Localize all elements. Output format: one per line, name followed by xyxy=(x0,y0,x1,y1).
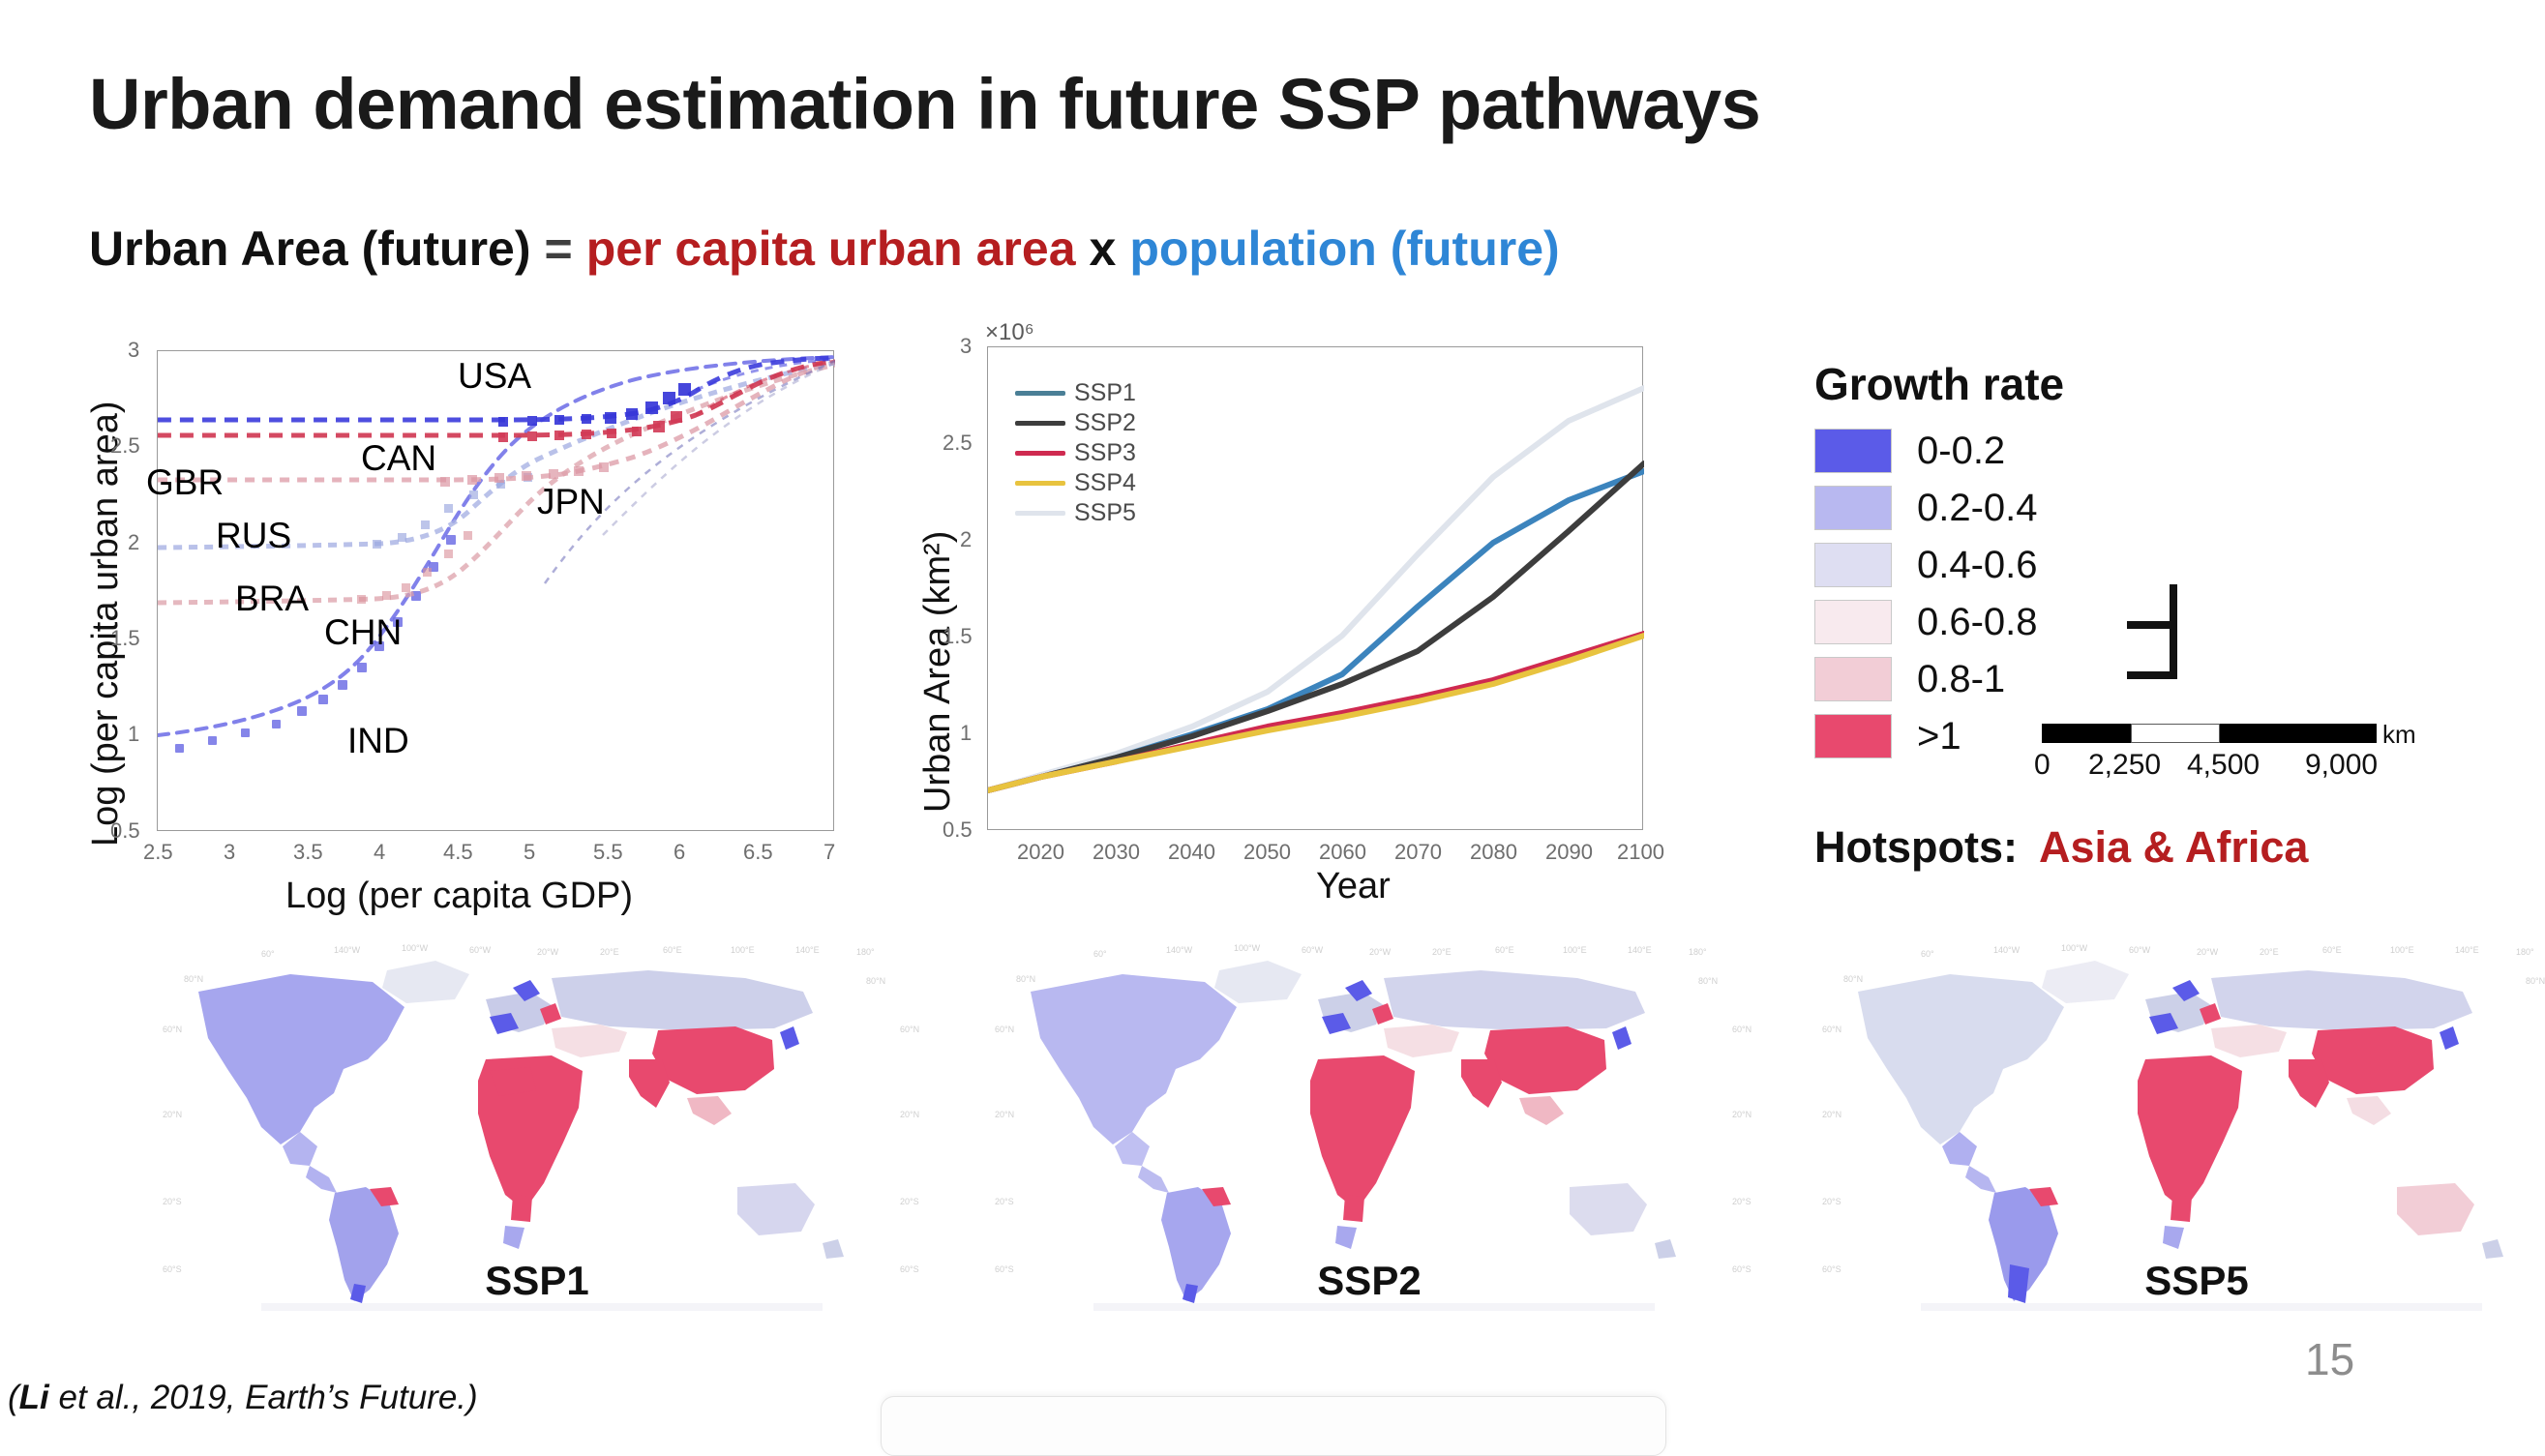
scalebar-tick-1: 2,250 xyxy=(2088,749,2161,782)
svg-text:140°W: 140°W xyxy=(1166,945,1193,955)
growth-legend-item-5[interactable]: >1 xyxy=(1814,714,1961,758)
legend-swatch-ssp3 xyxy=(1015,451,1065,456)
line-xtick-2100: 2100 xyxy=(1617,840,1664,865)
svg-text:20°N: 20°N xyxy=(900,1110,919,1119)
growth-swatch-0 xyxy=(1814,429,1892,473)
hotspots-value: Asia & Africa xyxy=(2039,822,2308,872)
legend-label-ssp1: SSP1 xyxy=(1074,379,1136,407)
scatter-plot-area: USA CAN GBR RUS BRA CHN JPN IND xyxy=(157,350,834,831)
svg-text:60°N: 60°N xyxy=(995,1025,1014,1034)
growth-legend-item-4[interactable]: 0.8-1 xyxy=(1814,657,2005,701)
legend-swatch-ssp4 xyxy=(1015,481,1065,486)
svg-text:180°: 180° xyxy=(2516,947,2534,957)
legend-item-ssp4[interactable]: SSP4 xyxy=(1015,468,1136,498)
scatter-x-axis-title: Log (per capita GDP) xyxy=(285,876,633,917)
scatter-xtick-6: 6 xyxy=(674,840,685,865)
hotspots-key: Hotspots: xyxy=(1814,822,2018,872)
growth-swatch-2 xyxy=(1814,543,1892,587)
svg-text:20°W: 20°W xyxy=(2197,947,2219,957)
svg-text:20°E: 20°E xyxy=(1432,947,1452,957)
svg-text:140°E: 140°E xyxy=(795,945,820,955)
growth-legend-item-0[interactable]: 0-0.2 xyxy=(1814,429,2005,473)
scatter-xtick-6_5: 6.5 xyxy=(743,840,773,865)
svg-text:60°W: 60°W xyxy=(469,945,492,955)
svg-text:100°W: 100°W xyxy=(1234,943,1261,953)
svg-text:80°N: 80°N xyxy=(184,974,203,984)
scatter-ytick-2: 2 xyxy=(128,530,139,555)
line-xtick-2070: 2070 xyxy=(1394,840,1442,865)
country-label-chn: CHN xyxy=(324,612,402,653)
svg-text:60°E: 60°E xyxy=(663,945,682,955)
legend-swatch-ssp2 xyxy=(1015,421,1065,426)
scatter-xtick-3_5: 3.5 xyxy=(293,840,323,865)
map-panel-ssp5: 60°140°W 100°W60°W 20°W20°E 60°E100°E 14… xyxy=(1805,924,2545,1311)
svg-text:60°: 60° xyxy=(1921,949,1934,959)
svg-text:60°N: 60°N xyxy=(900,1025,919,1034)
svg-text:60°W: 60°W xyxy=(2129,945,2151,955)
scatter-xtick-7: 7 xyxy=(823,840,835,865)
line-plot-area: SSP1 SSP2 SSP3 SSP4 SSP5 xyxy=(987,346,1643,830)
scatter-ytick-1: 1 xyxy=(128,722,139,747)
svg-text:60°: 60° xyxy=(1093,949,1107,959)
scatter-xtick-5: 5 xyxy=(524,840,535,865)
svg-text:180°: 180° xyxy=(1689,947,1707,957)
growth-label-2: 0.4-0.6 xyxy=(1917,544,2038,587)
citation-open: ( xyxy=(8,1379,19,1416)
svg-text:80°N: 80°N xyxy=(866,976,885,986)
growth-rate-title: Growth rate xyxy=(1814,358,2064,410)
scatter-ytick-3: 3 xyxy=(128,338,139,363)
legend-item-ssp1[interactable]: SSP1 xyxy=(1015,378,1136,408)
svg-text:140°E: 140°E xyxy=(1628,945,1652,955)
growth-label-1: 0.2-0.4 xyxy=(1917,487,2038,530)
svg-text:60°E: 60°E xyxy=(1495,945,1514,955)
hotspots-line: Hotspots:Asia & Africa xyxy=(1814,822,2308,873)
line-y-exponent: ×10⁶ xyxy=(985,319,1034,346)
growth-swatch-1 xyxy=(1814,486,1892,530)
citation-rest: et al., 2019, Earth’s Future.) xyxy=(49,1379,478,1416)
map-caption-ssp2: SSP2 xyxy=(977,1258,1761,1304)
svg-text:80°N: 80°N xyxy=(1016,974,1035,984)
legend-label-ssp5: SSP5 xyxy=(1074,499,1136,527)
country-label-usa: USA xyxy=(458,356,531,397)
legend-label-ssp3: SSP3 xyxy=(1074,439,1136,467)
svg-text:180°: 180° xyxy=(856,947,875,957)
scatter-xtick-4_5: 4.5 xyxy=(443,840,473,865)
scatter-chart: Log (per capita urban area) Log (per cap… xyxy=(0,0,871,929)
scatter-xtick-2_5: 2.5 xyxy=(143,840,173,865)
scalebar-tick-0: 0 xyxy=(2034,749,2051,782)
svg-text:20°E: 20°E xyxy=(2260,947,2279,957)
svg-text:100°W: 100°W xyxy=(2061,943,2088,953)
country-label-bra: BRA xyxy=(235,579,309,619)
growth-label-3: 0.6-0.8 xyxy=(1917,601,2038,644)
legend-item-ssp5[interactable]: SSP5 xyxy=(1015,498,1136,528)
growth-swatch-5 xyxy=(1814,714,1892,758)
country-label-jpn: JPN xyxy=(537,482,605,522)
legend-item-ssp3[interactable]: SSP3 xyxy=(1015,438,1136,468)
growth-legend-item-2[interactable]: 0.4-0.6 xyxy=(1814,543,2038,587)
line-xtick-2030: 2030 xyxy=(1093,840,1140,865)
line-xtick-2060: 2060 xyxy=(1319,840,1366,865)
north-arrow-icon xyxy=(2119,579,2206,685)
scatter-ytick-1_5: 1.5 xyxy=(110,626,140,651)
line-ytick-1_5: 1.5 xyxy=(943,624,973,649)
svg-text:20°N: 20°N xyxy=(995,1110,1014,1119)
scatter-xtick-4: 4 xyxy=(374,840,385,865)
svg-text:80°N: 80°N xyxy=(1843,974,1863,984)
scalebar-unit: km xyxy=(2382,720,2416,750)
svg-text:80°N: 80°N xyxy=(2526,976,2545,986)
line-y-axis-title: Urban Area (km²) xyxy=(917,531,959,813)
page-number: 15 xyxy=(2305,1333,2354,1385)
growth-label-4: 0.8-1 xyxy=(1917,658,2005,701)
svg-text:60°N: 60°N xyxy=(1822,1025,1841,1034)
svg-text:20°N: 20°N xyxy=(1732,1110,1752,1119)
svg-text:20°E: 20°E xyxy=(600,947,619,957)
legend-swatch-ssp5 xyxy=(1015,511,1065,516)
svg-text:60°N: 60°N xyxy=(163,1025,182,1034)
line-xtick-2090: 2090 xyxy=(1545,840,1593,865)
svg-text:140°W: 140°W xyxy=(1993,945,2021,955)
svg-text:60°W: 60°W xyxy=(1302,945,1324,955)
country-label-gbr: GBR xyxy=(146,462,224,503)
growth-label-5: >1 xyxy=(1917,715,1961,758)
growth-swatch-4 xyxy=(1814,657,1892,701)
world-map-ssp2: 60°140°W 100°W60°W 20°W20°E 60°E100°E 14… xyxy=(977,924,1761,1311)
growth-legend-item-1[interactable]: 0.2-0.4 xyxy=(1814,486,2038,530)
svg-text:60°E: 60°E xyxy=(2322,945,2342,955)
svg-text:20°N: 20°N xyxy=(1822,1110,1841,1119)
line-ytick-1: 1 xyxy=(960,721,972,746)
line-ytick-2: 2 xyxy=(960,527,972,552)
svg-text:100°E: 100°E xyxy=(1563,945,1587,955)
country-label-rus: RUS xyxy=(216,516,291,556)
svg-text:20°S: 20°S xyxy=(995,1197,1014,1206)
svg-text:20°W: 20°W xyxy=(1369,947,1392,957)
growth-label-0: 0-0.2 xyxy=(1917,430,2005,473)
svg-text:20°N: 20°N xyxy=(163,1110,182,1119)
map-caption-ssp1: SSP1 xyxy=(145,1258,929,1304)
scatter-ytick-2_5: 2.5 xyxy=(110,433,140,459)
line-xtick-2050: 2050 xyxy=(1243,840,1291,865)
svg-text:100°E: 100°E xyxy=(731,945,755,955)
line-ytick-2_5: 2.5 xyxy=(943,431,973,456)
line-xtick-2040: 2040 xyxy=(1168,840,1215,865)
map-caption-ssp5: SSP5 xyxy=(1805,1258,2545,1304)
country-label-ind: IND xyxy=(347,721,409,761)
line-chart: Urban Area (km²) Year ×10⁶ SSP xyxy=(871,0,1839,929)
scalebar-tick-3: 9,000 xyxy=(2305,749,2378,782)
line-ytick-3: 3 xyxy=(960,334,972,359)
svg-text:20°S: 20°S xyxy=(1822,1197,1841,1206)
scatter-xtick-5_5: 5.5 xyxy=(593,840,623,865)
map-panel-ssp1: 60°140°W 100°W60°W 20°W20°E 60°E100°E 14… xyxy=(145,924,929,1311)
world-map-ssp1: 60°140°W 100°W60°W 20°W20°E 60°E100°E 14… xyxy=(145,924,929,1311)
svg-text:20°S: 20°S xyxy=(900,1197,919,1206)
scatter-xtick-3: 3 xyxy=(224,840,235,865)
svg-text:60°N: 60°N xyxy=(1732,1025,1752,1034)
presentation-toolbar[interactable] xyxy=(881,1396,1666,1456)
legend-label-ssp4: SSP4 xyxy=(1074,469,1136,497)
scatter-ytick-0_5: 0.5 xyxy=(110,818,140,844)
world-map-ssp5: 60°140°W 100°W60°W 20°W20°E 60°E100°E 14… xyxy=(1805,924,2545,1311)
scalebar-tick-2: 4,500 xyxy=(2187,749,2260,782)
scatter-y-axis-title: Log (per capita urban area) xyxy=(85,401,127,847)
legend-item-ssp2[interactable]: SSP2 xyxy=(1015,408,1136,438)
svg-text:140°E: 140°E xyxy=(2455,945,2479,955)
svg-text:80°N: 80°N xyxy=(1698,976,1718,986)
svg-text:100°W: 100°W xyxy=(402,943,429,953)
svg-text:60°: 60° xyxy=(261,949,275,959)
legend-label-ssp2: SSP2 xyxy=(1074,409,1136,437)
growth-swatch-3 xyxy=(1814,600,1892,644)
map-panel-ssp2: 60°140°W 100°W60°W 20°W20°E 60°E100°E 14… xyxy=(977,924,1761,1311)
svg-text:100°E: 100°E xyxy=(2390,945,2414,955)
citation-text: (Li et al., 2019, Earth’s Future.) xyxy=(8,1379,478,1417)
legend-swatch-ssp1 xyxy=(1015,391,1065,396)
line-xtick-2080: 2080 xyxy=(1470,840,1517,865)
line-x-axis-title: Year xyxy=(1316,866,1391,907)
growth-legend-item-3[interactable]: 0.6-0.8 xyxy=(1814,600,2038,644)
map-scale-bar: km 0 2,250 4,500 9,000 xyxy=(2042,724,2377,743)
svg-text:140°W: 140°W xyxy=(334,945,361,955)
line-ytick-0_5: 0.5 xyxy=(943,817,973,843)
line-xtick-2020: 2020 xyxy=(1017,840,1064,865)
svg-text:20°S: 20°S xyxy=(163,1197,182,1206)
citation-author: Li xyxy=(19,1379,49,1416)
svg-text:20°S: 20°S xyxy=(1732,1197,1752,1206)
svg-text:20°W: 20°W xyxy=(537,947,559,957)
country-label-can: CAN xyxy=(361,438,436,479)
line-chart-legend: SSP1 SSP2 SSP3 SSP4 SSP5 xyxy=(1015,378,1136,528)
